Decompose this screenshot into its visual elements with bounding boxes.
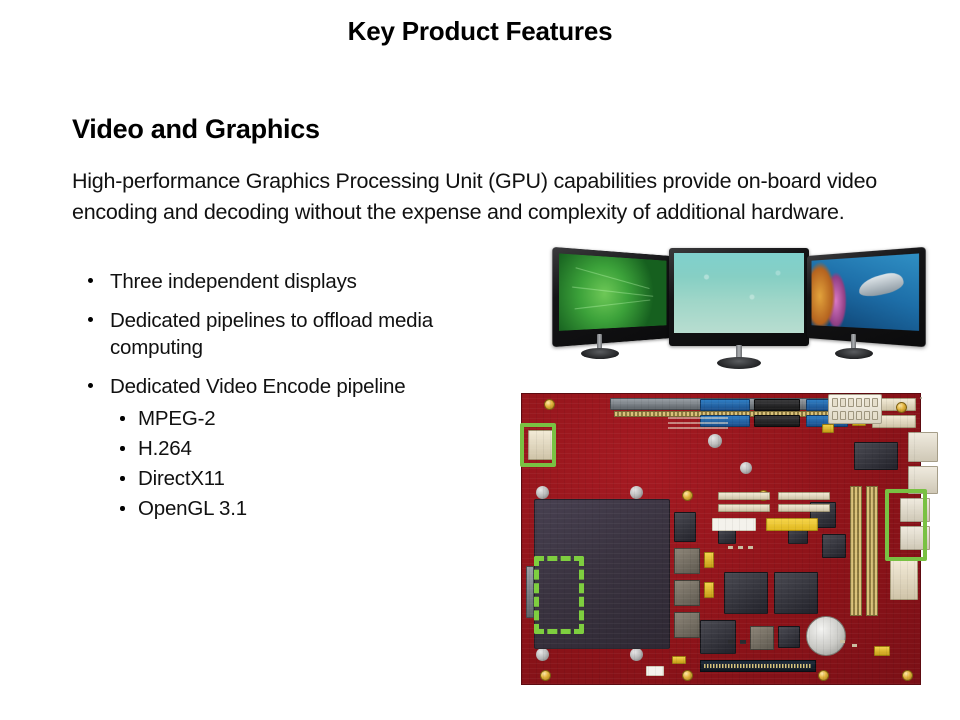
lan-transformer-chip [854,442,898,470]
list-item: OpenGL 3.1 [110,494,530,524]
monitor-screen [559,253,666,330]
codec-sub-list: MPEG-2 H.264 DirectX11 OpenGL 3.1 [110,404,530,524]
capacitor [874,646,890,656]
capacitor [704,552,714,568]
bullet-dot-icon [88,317,93,322]
silkscreen-text [668,417,728,429]
mounting-screw [818,670,829,681]
list-item-label: DirectX11 [138,467,225,490]
board-label [646,666,664,676]
sata-connector [700,399,750,411]
edge-header [890,560,918,600]
three-monitors-image [545,248,915,373]
slide-canvas: Key Product Features Video and Graphics … [0,0,960,720]
passive-component [748,546,753,549]
mounting-screw [682,670,693,681]
ic-chip [674,512,696,542]
shark-shape [857,270,906,299]
mounting-hole [630,648,643,661]
ic-chip [674,580,700,606]
mounting-screw [896,402,907,413]
list-item: Three independent displays [80,268,530,295]
passive-component [728,546,733,549]
coin-cell-battery [806,616,846,656]
ic-chip [750,626,774,650]
barcode-label [766,518,818,531]
list-item-label: OpenGL 3.1 [138,497,247,520]
passive-component [852,644,857,647]
mounting-hole [536,486,549,499]
mounting-hole [708,434,722,448]
pin-header [778,504,830,512]
list-item: MPEG-2 [110,404,530,434]
pin-header [718,492,770,500]
mounting-hole [630,486,643,499]
highlight-left-connector [520,423,556,467]
pin-header [718,504,770,512]
black-connector [754,415,800,427]
feature-bullet-list: Three independent displays Dedicated pip… [80,268,530,536]
spacer [920,397,922,399]
bullet-dot-icon [120,416,125,421]
passive-component [728,640,734,644]
pin-header [778,492,830,500]
ic-chip [778,626,800,648]
monitor-center-base [717,357,761,369]
turquoise-water-photo [674,253,804,333]
list-item: H.264 [110,434,530,464]
mounting-screw [540,670,551,681]
ic-chip [822,534,846,558]
body-paragraph: High-performance Graphics Processing Uni… [72,166,912,228]
monitor-left-base [581,348,619,359]
section-heading: Video and Graphics [72,114,320,145]
mounting-screw [544,399,555,410]
expansion-header [850,486,862,616]
bottom-edge-connector [700,660,816,672]
highlight-right-connectors [885,489,927,561]
bullet-dot-icon [88,278,93,283]
ic-chip [674,612,700,638]
list-item-label: Three independent displays [110,270,357,293]
capacitor [672,656,686,664]
passive-component [740,640,746,644]
coral-reef-shark-photo [812,253,919,330]
monitor-right-base [835,348,873,359]
mounting-screw [902,670,913,681]
list-item: Dedicated pipelines to offload media com… [80,307,530,361]
bullet-dot-icon [120,446,125,451]
rj45-jack [908,432,938,462]
ic-chip [700,620,736,654]
passive-component [840,640,845,643]
black-connector [754,399,800,411]
mounting-hole [740,462,752,474]
list-item: Dedicated Video Encode pipeline MPEG-2 H… [80,373,530,524]
list-item: DirectX11 [110,464,530,494]
board-label [712,518,756,531]
monitor-left [552,247,671,347]
capacitor [704,582,714,598]
monitor-center [669,248,809,346]
list-item-label: H.264 [138,437,192,460]
capacitor [822,424,834,433]
pcb-substrate [521,393,921,685]
monitor-screen [674,253,804,333]
single-board-computer-photo [515,385,925,690]
page-title: Key Product Features [0,16,960,47]
list-item-label: Dedicated pipelines to offload media com… [110,309,433,359]
mounting-screw [682,490,693,501]
ic-chip-large [724,572,768,614]
monitor-right [807,247,926,347]
ic-chip [674,548,700,574]
list-item-label: MPEG-2 [138,407,215,430]
monitor-screen [812,253,919,330]
highlight-gpu-area [534,556,584,634]
atx-power-connector [828,394,882,424]
mounting-hole [536,648,549,661]
bullet-dot-icon [120,506,125,511]
ic-chip-large [774,572,818,614]
bullet-dot-icon [88,383,93,388]
green-leaf-photo [559,253,666,330]
passive-component [738,546,743,549]
list-item-label: Dedicated Video Encode pipeline [110,375,405,398]
side-slot [526,566,534,618]
bullet-dot-icon [120,476,125,481]
expansion-header [866,486,878,616]
